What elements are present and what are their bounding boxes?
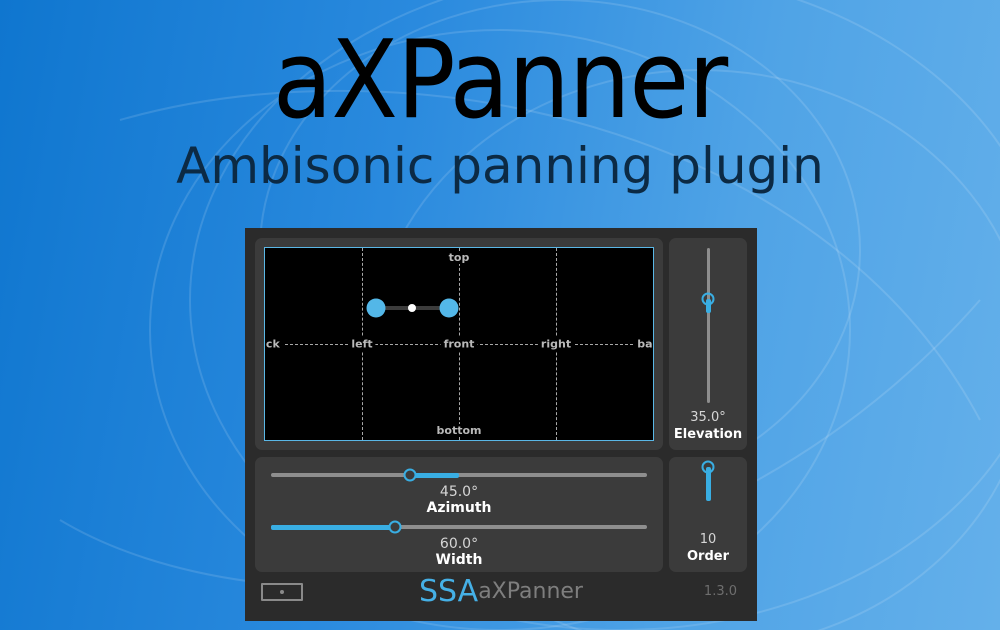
- panner-label-front: front: [441, 338, 478, 351]
- preset-button[interactable]: [261, 583, 303, 601]
- elevation-slider[interactable]: [700, 248, 716, 403]
- azimuth-label: Azimuth: [271, 500, 647, 516]
- brand-product-name: aXPanner: [478, 579, 583, 604]
- panner-label-back-left: ck: [264, 338, 283, 351]
- panner-card: top bottom ck left front right ba: [255, 238, 663, 450]
- azimuth-slider[interactable]: [271, 468, 647, 482]
- version-label: 1.3.0: [704, 584, 737, 599]
- plugin-footer: SSAaXPanner 1.3.0: [255, 572, 747, 611]
- brand: SSAaXPanner: [255, 574, 747, 609]
- order-thumb[interactable]: [702, 461, 715, 474]
- panner-label-left: left: [348, 338, 375, 351]
- page-subtitle: Ambisonic panning plugin: [0, 140, 1000, 193]
- elevation-thumb[interactable]: [702, 293, 715, 306]
- elevation-value: 35.0°: [690, 410, 725, 425]
- elevation-card: 35.0° Elevation: [669, 238, 747, 450]
- width-slider[interactable]: [271, 520, 647, 534]
- width-fill: [271, 525, 395, 530]
- source-handle-right[interactable]: [440, 298, 459, 317]
- azimuth-value: 45.0°: [271, 484, 647, 500]
- width-group: 60.0° Width: [271, 520, 647, 568]
- page-title: aXPanner: [0, 26, 1000, 136]
- order-value: 10: [700, 532, 717, 547]
- width-thumb[interactable]: [389, 521, 402, 534]
- preset-dot-icon: [280, 590, 284, 594]
- plugin-window: top bottom ck left front right ba 35.0°: [245, 228, 757, 621]
- hero-section: aXPanner Ambisonic panning plugin: [0, 26, 1000, 193]
- azimuth-fill: [410, 473, 459, 478]
- panner-label-top: top: [446, 251, 473, 264]
- elevation-track: [707, 248, 710, 403]
- brand-ssa-logo: SSA: [419, 574, 478, 609]
- azimuth-thumb[interactable]: [404, 469, 417, 482]
- width-label: Width: [271, 552, 647, 568]
- source-handle-left[interactable]: [366, 298, 385, 317]
- azimuth-group: 45.0° Azimuth: [271, 468, 647, 516]
- plugin-bottom-row: 45.0° Azimuth 60.0° Width 10 Order: [255, 457, 747, 572]
- panner-label-back-right: ba: [634, 338, 654, 351]
- source-handle-center[interactable]: [408, 304, 416, 312]
- plugin-top-row: top bottom ck left front right ba 35.0°: [255, 238, 747, 450]
- elevation-label: Elevation: [674, 427, 742, 442]
- sliders-card: 45.0° Azimuth 60.0° Width: [255, 457, 663, 572]
- order-slider[interactable]: [700, 467, 716, 525]
- panner-label-right: right: [538, 338, 574, 351]
- order-card: 10 Order: [669, 457, 747, 572]
- order-label: Order: [687, 549, 729, 564]
- width-value: 60.0°: [271, 536, 647, 552]
- panner-view[interactable]: top bottom ck left front right ba: [264, 247, 654, 441]
- panner-label-bottom: bottom: [434, 424, 485, 437]
- azimuth-track: [271, 473, 647, 477]
